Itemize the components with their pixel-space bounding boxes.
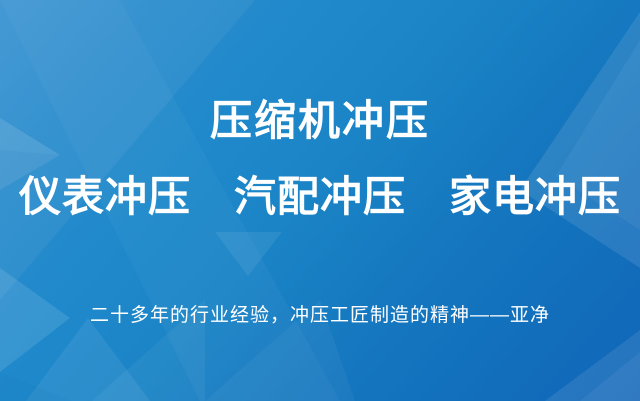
promo-banner: 压缩机冲压 仪表冲压 汽配冲压 家电冲压 二十多年的行业经验，冲压工匠制造的精神…	[0, 0, 640, 401]
headline-secondary: 仪表冲压 汽配冲压 家电冲压	[0, 172, 640, 222]
banner-tagline: 二十多年的行业经验，冲压工匠制造的精神——亚净	[0, 303, 640, 330]
headline-primary: 压缩机冲压	[0, 96, 640, 146]
banner-content: 压缩机冲压 仪表冲压 汽配冲压 家电冲压 二十多年的行业经验，冲压工匠制造的精神…	[0, 0, 640, 401]
